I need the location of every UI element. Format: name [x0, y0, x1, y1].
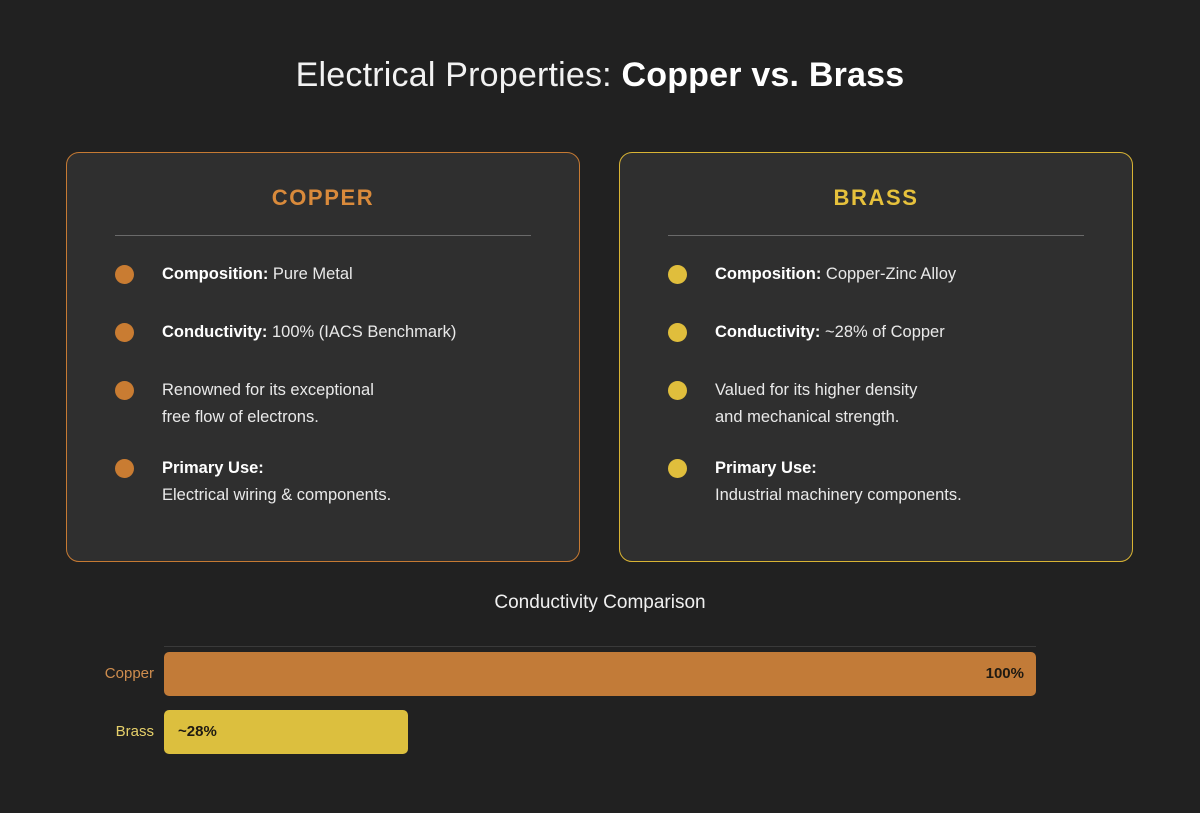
list-item: Composition: Pure Metal — [115, 261, 553, 295]
list-item-label: Composition: — [162, 265, 268, 283]
chart-bar-copper — [164, 652, 1036, 696]
list-item-text: Renowned for its exceptional free flow o… — [162, 377, 553, 431]
card-brass-heading: BRASS — [620, 185, 1132, 211]
list-item-text: Composition: Copper-Zinc Alloy — [715, 261, 1106, 288]
list-item-line2: Industrial machinery components. — [715, 482, 1106, 509]
bullet-dot-icon — [115, 265, 134, 284]
list-item: Primary Use: Industrial machinery compon… — [668, 455, 1106, 509]
page-title-emphasis: Copper vs. Brass — [621, 56, 904, 94]
bullet-dot-icon — [115, 381, 134, 400]
chart-value-label-brass: ~28% — [178, 710, 217, 754]
list-item-text: Primary Use: Electrical wiring & compone… — [162, 455, 553, 509]
list-item-label: Primary Use: — [162, 459, 264, 477]
bullet-dot-icon — [115, 459, 134, 478]
chart-value-label-copper: 100% — [986, 652, 1024, 696]
chart-plot-area: Copper 100% Brass ~28% — [164, 646, 1036, 758]
list-item-line2: free flow of electrons. — [162, 404, 553, 431]
list-item: Primary Use: Electrical wiring & compone… — [115, 455, 553, 509]
list-item-label: Conductivity: — [162, 323, 267, 341]
list-item: Composition: Copper-Zinc Alloy — [668, 261, 1106, 295]
chart-gridline-top — [164, 646, 1036, 647]
page-title: Electrical Properties: Copper vs. Brass — [0, 56, 1200, 95]
card-brass-divider — [668, 235, 1084, 236]
card-copper: COPPER Composition: Pure Metal Conductiv… — [66, 152, 580, 562]
card-brass: BRASS Composition: Copper-Zinc Alloy Con… — [619, 152, 1133, 562]
bullet-dot-icon — [668, 459, 687, 478]
list-item: Conductivity: ~28% of Copper — [668, 319, 1106, 353]
card-copper-bullet-list: Composition: Pure Metal Conductivity: 10… — [115, 261, 553, 509]
list-item-line2: and mechanical strength. — [715, 404, 1106, 431]
list-item-label: Primary Use: — [715, 459, 817, 477]
list-item-value: Pure Metal — [268, 265, 352, 283]
list-item-text: Conductivity: ~28% of Copper — [715, 319, 1106, 346]
infographic-page: Electrical Properties: Copper vs. Brass … — [0, 0, 1200, 813]
list-item-label: Composition: — [715, 265, 821, 283]
card-copper-heading: COPPER — [67, 185, 579, 211]
list-item-text: Conductivity: 100% (IACS Benchmark) — [162, 319, 553, 346]
chart-category-label-copper: Copper — [105, 652, 154, 696]
bullet-dot-icon — [668, 381, 687, 400]
page-title-prefix: Electrical Properties: — [296, 56, 622, 94]
list-item-line2: Electrical wiring & components. — [162, 482, 553, 509]
list-item-value: Renowned for its exceptional — [162, 381, 374, 399]
list-item-value: ~28% of Copper — [820, 323, 944, 341]
bullet-dot-icon — [668, 323, 687, 342]
chart-title: Conductivity Comparison — [0, 592, 1200, 614]
list-item: Renowned for its exceptional free flow o… — [115, 377, 553, 431]
list-item-label: Conductivity: — [715, 323, 820, 341]
chart-category-label-brass: Brass — [116, 710, 154, 754]
list-item-value: Copper-Zinc Alloy — [821, 265, 956, 283]
bullet-dot-icon — [115, 323, 134, 342]
list-item: Conductivity: 100% (IACS Benchmark) — [115, 319, 553, 353]
list-item-text: Composition: Pure Metal — [162, 261, 553, 288]
list-item-text: Primary Use: Industrial machinery compon… — [715, 455, 1106, 509]
chart-bar-row-copper: Copper 100% — [164, 652, 1036, 696]
conductivity-chart: Conductivity Comparison Copper 100% Bras… — [0, 592, 1200, 772]
list-item-value: 100% (IACS Benchmark) — [267, 323, 456, 341]
list-item: Valued for its higher density and mechan… — [668, 377, 1106, 431]
card-copper-divider — [115, 235, 531, 236]
chart-bar-row-brass: Brass ~28% — [164, 710, 1036, 754]
list-item-value: Valued for its higher density — [715, 381, 917, 399]
card-brass-bullet-list: Composition: Copper-Zinc Alloy Conductiv… — [668, 261, 1106, 509]
bullet-dot-icon — [668, 265, 687, 284]
list-item-text: Valued for its higher density and mechan… — [715, 377, 1106, 431]
